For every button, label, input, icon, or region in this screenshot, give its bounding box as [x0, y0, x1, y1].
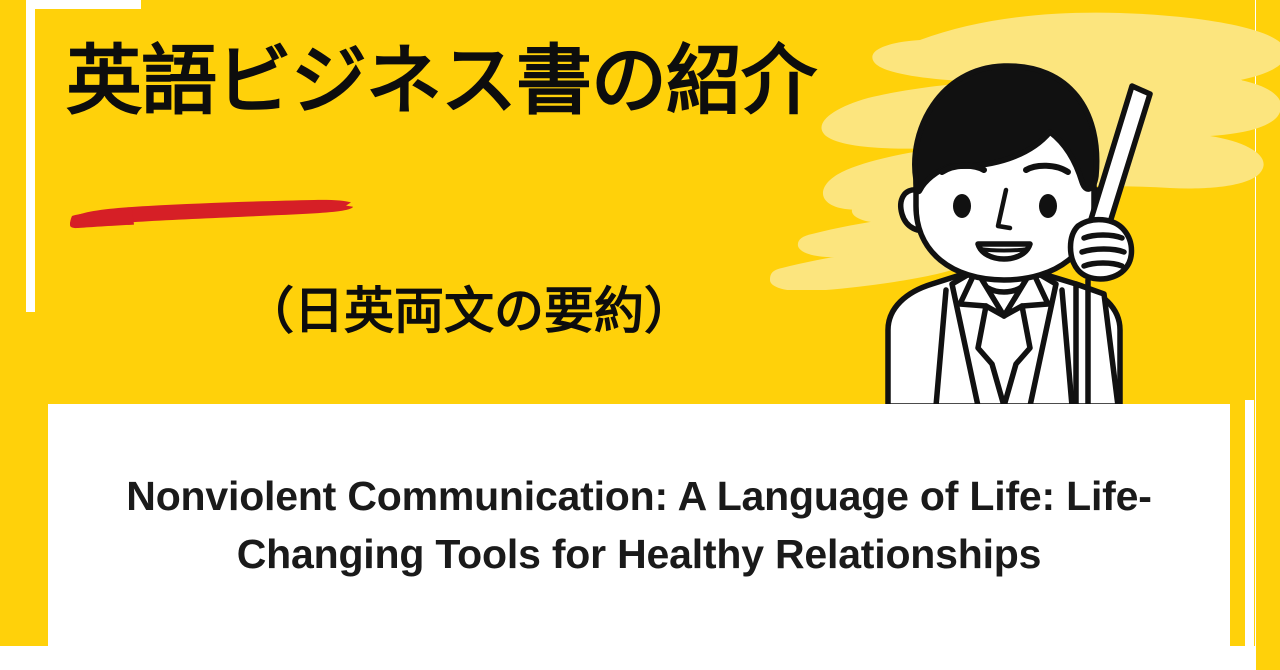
book-title-text: Nonviolent Communication: A Language of …: [119, 467, 1159, 583]
page-title-japanese: 英語ビジネス書の紹介: [66, 44, 816, 120]
white-corner-rule-vertical: [26, 0, 35, 312]
thumbnail-canvas: 英語ビジネス書の紹介 （日英両文の要約）: [0, 0, 1280, 670]
page-subtitle-japanese: （日英両文の要約）: [244, 286, 694, 336]
person-with-pointer-illustration-icon: [880, 58, 1170, 406]
red-brush-underline-icon: [70, 193, 360, 233]
book-title-card: Nonviolent Communication: A Language of …: [48, 404, 1230, 646]
white-vertical-rule-right: [1245, 400, 1254, 670]
yellow-right-strip: [1256, 0, 1280, 670]
white-corner-rule-top: [26, 0, 141, 9]
